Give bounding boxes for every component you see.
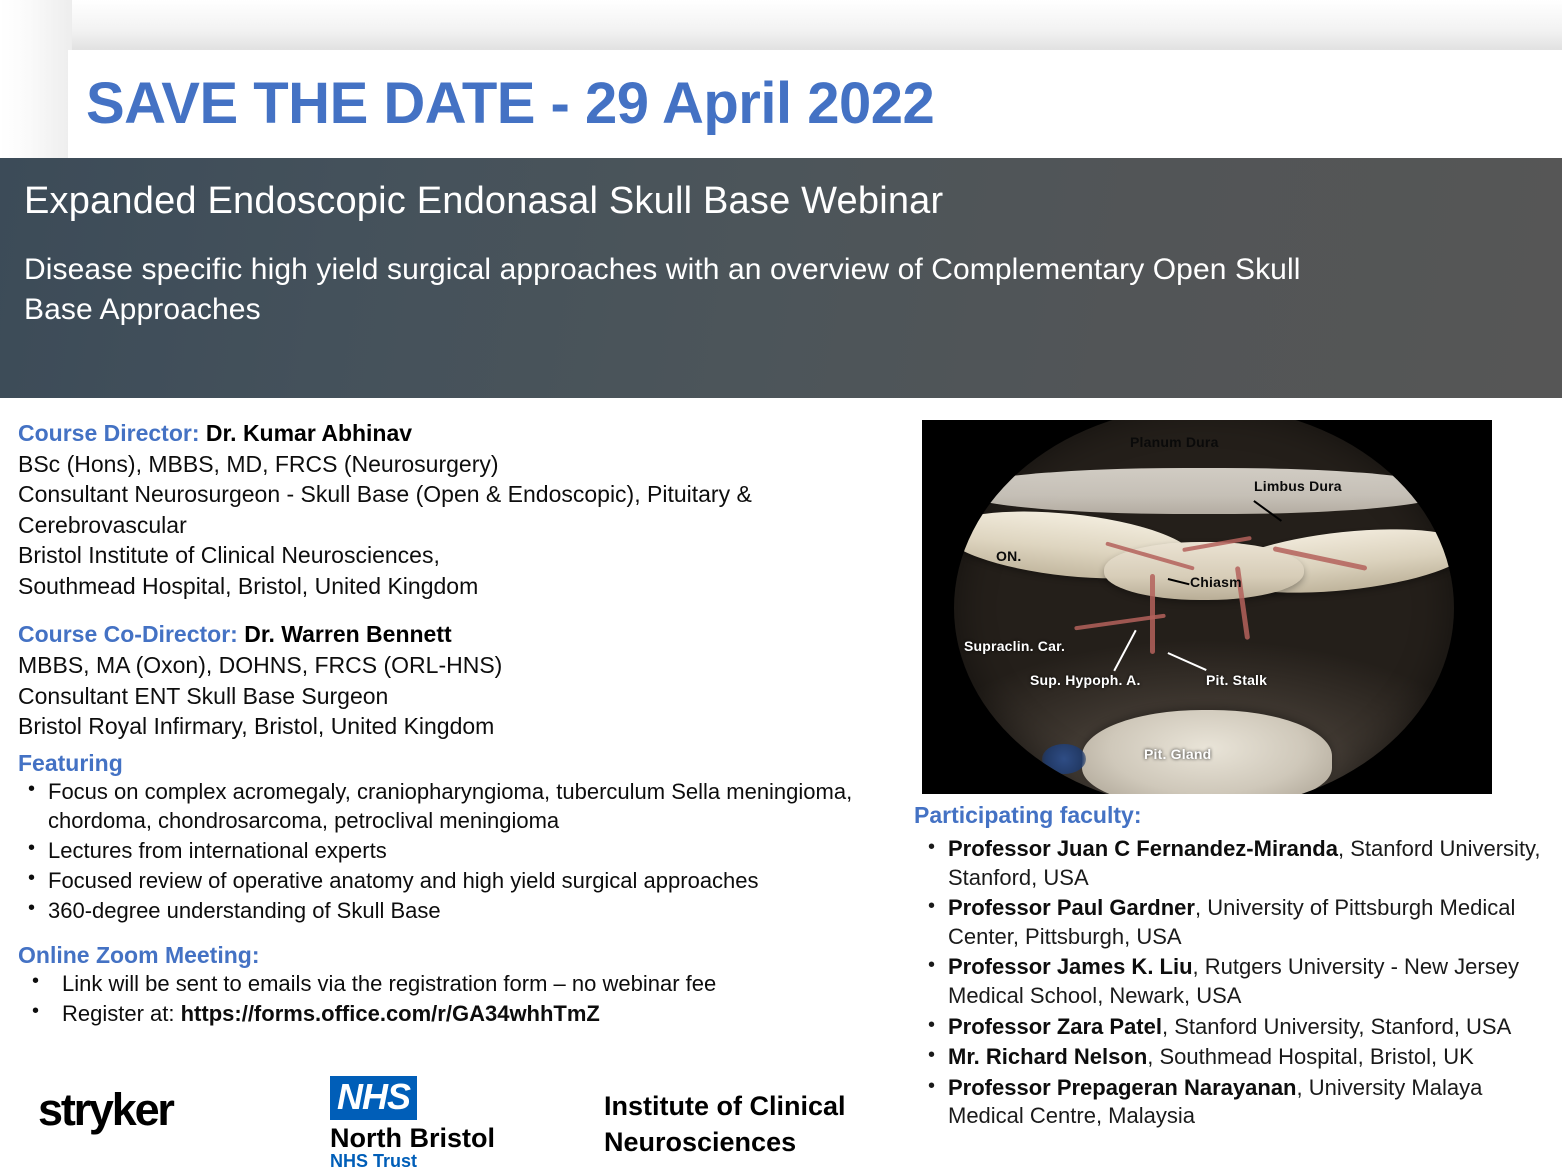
course-director-line-1: BSc (Hons), MBBS, MD, FRCS (Neurosurgery… [18, 449, 898, 480]
course-codirector-line-2: Consultant ENT Skull Base Surgeon [18, 681, 898, 712]
nhs-north-bristol-logo: NHS North Bristol NHS Trust [330, 1076, 510, 1172]
leader-line-pit-stalk [1168, 652, 1207, 671]
featuring-label: Featuring [18, 750, 898, 777]
left-column: Course Director: Dr. Kumar Abhinav BSc (… [18, 418, 898, 1029]
faculty-name: Professor James K. Liu [948, 954, 1193, 979]
webinar-banner: Expanded Endoscopic Endonasal Skull Base… [0, 158, 1562, 398]
spacer [18, 926, 898, 942]
course-director-line-2: Consultant Neurosurgeon - Skull Base (Op… [18, 479, 898, 540]
participating-faculty-label: Participating faculty: [914, 802, 1554, 829]
course-codirector-headline: Course Co-Director: Dr. Warren Bennett [18, 619, 898, 650]
banner-subtitle: Disease specific high yield surgical app… [24, 250, 1354, 330]
course-codirector-name: Dr. Warren Bennett [244, 621, 451, 647]
course-director-line-3: Bristol Institute of Clinical Neuroscien… [18, 540, 898, 571]
list-item: Focused review of operative anatomy and … [18, 866, 898, 895]
course-codirector-line-3: Bristol Royal Infirmary, Bristol, United… [18, 711, 898, 742]
list-item: Lectures from international experts [18, 836, 898, 865]
banner-title: Expanded Endoscopic Endonasal Skull Base… [24, 180, 1522, 224]
course-codirector-block: Course Co-Director: Dr. Warren Bennett M… [18, 619, 898, 741]
endoscope-field-of-view: Planum Dura Limbus Dura ON. Chiasm Supra… [954, 420, 1454, 794]
left-gradient-fade [0, 0, 72, 160]
featuring-list: Focus on complex acromegaly, craniophary… [18, 777, 898, 925]
image-label-chiasm: Chiasm [1190, 574, 1242, 590]
image-label-limbus-dura: Limbus Dura [1254, 478, 1342, 494]
spacer [18, 603, 898, 619]
page-title: SAVE THE DATE - 29 April 2022 [86, 75, 934, 133]
blue-dye-marker [1042, 744, 1086, 774]
top-gradient-strip [0, 0, 1562, 56]
registration-link[interactable]: https://forms.office.com/r/GA34whhTmZ [181, 1001, 600, 1026]
course-codirector-label: Course Co-Director: [18, 621, 238, 647]
content-area: Course Director: Dr. Kumar Abhinav BSc (… [0, 398, 1562, 1166]
planum-dura-region [964, 468, 1444, 514]
course-codirector-line-1: MBBS, MA (Oxon), DOHNS, FRCS (ORL-HNS) [18, 650, 898, 681]
faculty-name: Professor Paul Gardner [948, 895, 1195, 920]
stryker-logo: stryker [38, 1084, 173, 1136]
image-label-pit-stalk: Pit. Stalk [1206, 672, 1267, 688]
list-item: Professor James K. Liu, Rutgers Universi… [914, 953, 1554, 1010]
save-the-date-card: SAVE THE DATE - 29 April 2022 [68, 50, 1562, 158]
list-item: Professor Juan C Fernandez-Miranda, Stan… [914, 835, 1554, 892]
faculty-affiliation: , Southmead Hospital, Bristol, UK [1147, 1044, 1473, 1069]
institute-of-clinical-neurosciences-logo: Institute of Clinical Neurosciences [604, 1088, 904, 1161]
nhs-trust-sub: NHS Trust [330, 1152, 510, 1172]
course-director-label: Course Director: [18, 420, 199, 446]
register-prefix: Register at: [62, 1001, 181, 1026]
course-director-name: Dr. Kumar Abhinav [206, 420, 412, 446]
endoscopic-anatomy-image: Planum Dura Limbus Dura ON. Chiasm Supra… [922, 420, 1492, 794]
image-label-planum-dura: Planum Dura [1130, 434, 1219, 450]
icn-line-2: Neurosciences [604, 1124, 904, 1160]
list-item: Focus on complex acromegaly, craniophary… [18, 777, 898, 835]
faculty-name: Professor Zara Patel [948, 1014, 1162, 1039]
nhs-logo-mark: NHS [330, 1076, 417, 1120]
list-item: Professor Paul Gardner, University of Pi… [914, 894, 1554, 951]
image-label-on: ON. [996, 548, 1022, 564]
list-item: Mr. Richard Nelson, Southmead Hospital, … [914, 1043, 1554, 1072]
faculty-name: Professor Juan C Fernandez-Miranda [948, 836, 1338, 861]
faculty-name: Mr. Richard Nelson [948, 1044, 1147, 1069]
online-zoom-meeting-label: Online Zoom Meeting: [18, 942, 898, 969]
image-label-pit-gland: Pit. Gland [1144, 746, 1211, 762]
faculty-affiliation: , Stanford University, Stanford, USA [1162, 1014, 1511, 1039]
leader-line-sup-hypoph-a [1113, 630, 1136, 671]
list-item: Link will be sent to emails via the regi… [18, 969, 898, 998]
sponsor-logos: stryker NHS North Bristol NHS Trust Inst… [0, 1074, 1562, 1166]
icn-line-1: Institute of Clinical [604, 1088, 904, 1124]
course-director-line-4: Southmead Hospital, Bristol, United King… [18, 571, 898, 602]
nhs-trust-name: North Bristol [330, 1124, 510, 1152]
list-item: 360-degree understanding of Skull Base [18, 896, 898, 925]
image-label-supraclin-car: Supraclin. Car. [964, 638, 1065, 654]
image-label-sup-hypoph-a: Sup. Hypoph. A. [1030, 672, 1141, 688]
list-item-register: Register at: https://forms.office.com/r/… [18, 999, 898, 1028]
zoom-meeting-list: Link will be sent to emails via the regi… [18, 969, 898, 1028]
course-director-headline: Course Director: Dr. Kumar Abhinav [18, 418, 898, 449]
list-item: Professor Zara Patel, Stanford Universit… [914, 1013, 1554, 1042]
vessel-branch [1150, 574, 1155, 654]
course-director-block: Course Director: Dr. Kumar Abhinav BSc (… [18, 418, 898, 601]
